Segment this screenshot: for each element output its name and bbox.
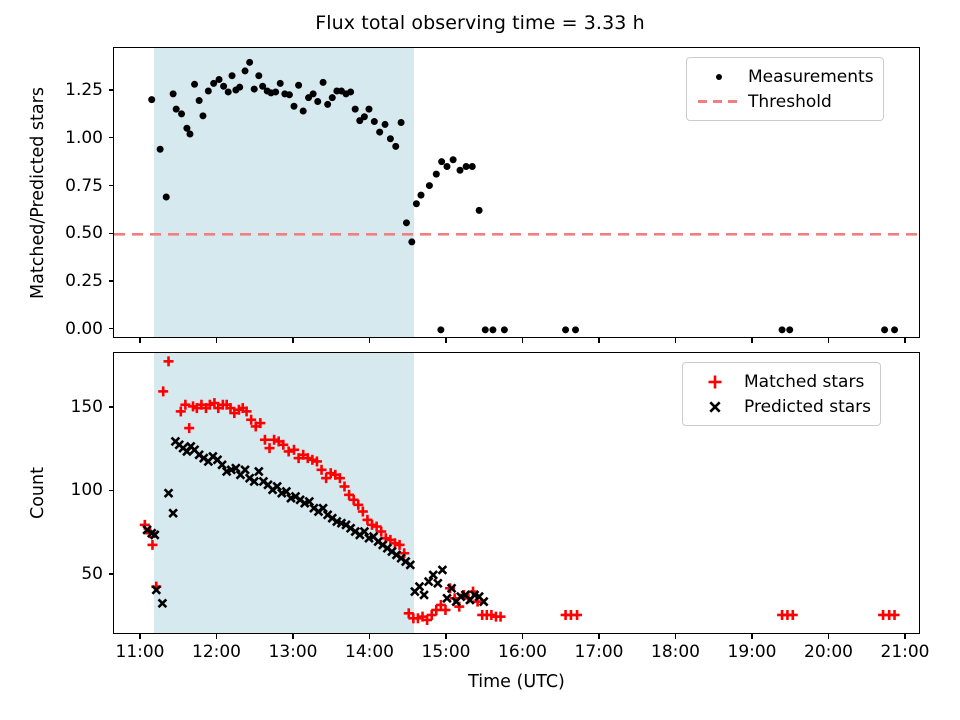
predicted-star-point xyxy=(429,571,437,579)
measurement-point xyxy=(450,156,457,163)
top-panel-ylabel: Matched/Predicted stars xyxy=(28,87,48,299)
predicted-stars-point-group xyxy=(143,438,487,608)
xaxis-ticklabel: 16:00 xyxy=(498,642,547,662)
measurement-point xyxy=(324,101,331,108)
measurement-point xyxy=(320,79,327,86)
yaxis-tick xyxy=(109,89,114,90)
predicted-star-point xyxy=(420,591,428,599)
xaxis-tick xyxy=(598,634,599,639)
legend-item-predicted-stars[interactable]: Predicted stars xyxy=(692,394,871,419)
xaxis-tick xyxy=(598,338,599,343)
page-title: Flux total observing time = 3.33 h xyxy=(0,12,960,34)
measurement-point xyxy=(251,86,258,93)
legend-label-predicted-stars: Predicted stars xyxy=(738,397,871,417)
yaxis-tick xyxy=(109,233,114,234)
measurement-point xyxy=(398,119,405,126)
measurement-point xyxy=(352,106,359,113)
measurement-point xyxy=(295,82,302,89)
yaxis-ticklabel: 50 xyxy=(0,564,103,584)
measurement-point xyxy=(786,326,793,333)
measurement-point xyxy=(310,90,317,97)
measurement-point xyxy=(489,326,496,333)
bottom-panel-legend: Matched stars Predicted stars xyxy=(682,362,881,426)
measurement-point xyxy=(148,96,155,103)
figure-canvas: Flux total observing time = 3.33 h 0.000… xyxy=(0,0,960,720)
xaxis-tick xyxy=(522,634,523,639)
measurement-point xyxy=(229,72,236,79)
xaxis-tick xyxy=(292,634,293,639)
legend-item-threshold[interactable]: Threshold xyxy=(696,89,874,114)
xaxis-tick xyxy=(675,338,676,343)
measurement-point xyxy=(413,200,420,207)
measurement-point xyxy=(216,76,223,83)
yaxis-tick xyxy=(109,280,114,281)
measurement-point xyxy=(387,135,394,142)
yaxis-ticklabel: 1.00 xyxy=(0,128,103,148)
yaxis-tick xyxy=(109,328,114,329)
measurement-point xyxy=(408,238,415,245)
yaxis-ticklabel: 0.50 xyxy=(0,223,103,243)
matched-star-point xyxy=(284,446,294,456)
measurement-point xyxy=(170,90,177,97)
measurement-point xyxy=(382,121,389,128)
measurement-point xyxy=(300,108,307,115)
measurement-point xyxy=(779,326,786,333)
measurement-point xyxy=(433,171,440,178)
xaxis-tick xyxy=(369,634,370,639)
yaxis-ticklabel: 0.00 xyxy=(0,319,103,339)
measurement-point xyxy=(186,130,193,137)
measurement-point xyxy=(163,194,170,201)
matched-star-point xyxy=(164,356,174,366)
predicted-star-point xyxy=(169,509,177,517)
xaxis-tick xyxy=(904,634,905,639)
measurement-point xyxy=(246,59,253,66)
predicted-star-point xyxy=(241,466,249,474)
measurement-point xyxy=(173,106,180,113)
legend-label-matched-stars: Matched stars xyxy=(738,372,864,392)
measurement-point xyxy=(347,88,354,95)
xaxis-tick xyxy=(522,338,523,343)
measurement-point xyxy=(469,163,476,170)
top-panel-legend: Measurements Threshold xyxy=(686,57,884,121)
xaxis-tick xyxy=(445,338,446,343)
xaxis-tick xyxy=(139,634,140,639)
xaxis-ticklabel: 21:00 xyxy=(881,642,930,662)
legend-label-measurements: Measurements xyxy=(742,67,874,87)
predicted-star-point xyxy=(439,566,447,574)
xaxis-tick xyxy=(828,634,829,639)
xaxis-ticklabel: 19:00 xyxy=(728,642,777,662)
yaxis-ticklabel: 0.25 xyxy=(0,271,103,291)
yaxis-ticklabel: 0.75 xyxy=(0,176,103,196)
xaxis-tick xyxy=(445,634,446,639)
xaxis-tick xyxy=(675,634,676,639)
xaxis-tick xyxy=(904,338,905,343)
predicted-star-point xyxy=(255,468,263,476)
measurement-point xyxy=(417,192,424,199)
matched-star-point xyxy=(158,386,168,396)
xaxis-label: Time (UTC) xyxy=(468,672,565,692)
xaxis-tick xyxy=(828,338,829,343)
measurement-point xyxy=(476,207,483,214)
matched-star-point xyxy=(572,610,582,620)
cross-marker-icon xyxy=(692,396,738,418)
measurement-point xyxy=(392,143,399,150)
measurement-point xyxy=(286,91,293,98)
measurement-point xyxy=(376,129,383,136)
measurement-point xyxy=(225,88,232,95)
xaxis-tick xyxy=(369,338,370,343)
measurement-point xyxy=(178,110,185,117)
measurement-point xyxy=(242,67,249,74)
dot-marker-icon xyxy=(696,66,742,88)
predicted-star-point xyxy=(165,489,173,497)
yaxis-tick xyxy=(109,137,114,138)
xaxis-ticklabel: 12:00 xyxy=(192,642,241,662)
measurement-point xyxy=(438,158,445,165)
plus-marker-icon xyxy=(692,371,738,393)
measurement-point xyxy=(562,326,569,333)
xaxis-ticklabel: 20:00 xyxy=(804,642,853,662)
measurement-point xyxy=(501,326,508,333)
measurement-point xyxy=(314,98,321,105)
measurement-point xyxy=(482,326,489,333)
measurement-point xyxy=(196,97,203,104)
matched-star-point xyxy=(184,423,194,433)
xaxis-ticklabel: 14:00 xyxy=(345,642,394,662)
measurement-point xyxy=(272,88,279,95)
matched-star-point xyxy=(890,610,900,620)
measurement-point xyxy=(572,326,579,333)
dashed-line-icon xyxy=(696,91,742,113)
measurement-point xyxy=(191,81,198,88)
measurement-point xyxy=(255,72,262,79)
xaxis-ticklabel: 13:00 xyxy=(269,642,318,662)
xaxis-ticklabel: 11:00 xyxy=(116,642,165,662)
yaxis-tick xyxy=(109,185,114,186)
measurement-point xyxy=(220,83,227,90)
yaxis-ticklabel: 100 xyxy=(0,480,103,500)
legend-item-matched-stars[interactable]: Matched stars xyxy=(692,369,871,394)
yaxis-ticklabel: 150 xyxy=(0,397,103,417)
measurement-point xyxy=(891,326,898,333)
measurement-point xyxy=(199,112,206,119)
measurement-point xyxy=(365,106,372,113)
measurement-point xyxy=(437,326,444,333)
predicted-star-point xyxy=(218,461,226,469)
measurement-point xyxy=(403,219,410,226)
matched-star-point xyxy=(147,540,157,550)
xaxis-ticklabel: 15:00 xyxy=(422,642,471,662)
yaxis-tick xyxy=(109,573,114,574)
measurement-point xyxy=(361,113,368,120)
measurement-point xyxy=(291,103,298,110)
predicted-star-point xyxy=(159,599,167,607)
legend-item-measurements[interactable]: Measurements xyxy=(696,64,874,89)
measurement-point xyxy=(881,326,888,333)
measurement-point xyxy=(426,182,433,189)
xaxis-tick xyxy=(292,338,293,343)
measurement-point xyxy=(236,84,243,91)
predicted-star-point xyxy=(425,578,433,586)
yaxis-tick xyxy=(109,490,114,491)
measurement-point xyxy=(371,118,378,125)
measurement-point xyxy=(157,146,164,153)
measurement-point xyxy=(205,87,212,94)
yaxis-ticklabel: 1.25 xyxy=(0,80,103,100)
xaxis-tick xyxy=(751,634,752,639)
xaxis-ticklabel: 18:00 xyxy=(651,642,700,662)
xaxis-tick xyxy=(216,634,217,639)
xaxis-ticklabel: 17:00 xyxy=(575,642,624,662)
measurement-point xyxy=(329,94,336,101)
measurement-point xyxy=(457,167,464,174)
measurement-point xyxy=(444,163,451,170)
measurement-point xyxy=(277,80,284,87)
xaxis-tick xyxy=(216,338,217,343)
bottom-panel-ylabel: Count xyxy=(28,467,48,519)
xaxis-tick xyxy=(139,338,140,343)
yaxis-tick xyxy=(109,406,114,407)
legend-label-threshold: Threshold xyxy=(742,92,832,112)
measurement-point xyxy=(463,163,470,170)
matched-star-point xyxy=(788,610,798,620)
xaxis-tick xyxy=(751,338,752,343)
predicted-star-point xyxy=(434,579,442,587)
predicted-star-point xyxy=(416,583,424,591)
